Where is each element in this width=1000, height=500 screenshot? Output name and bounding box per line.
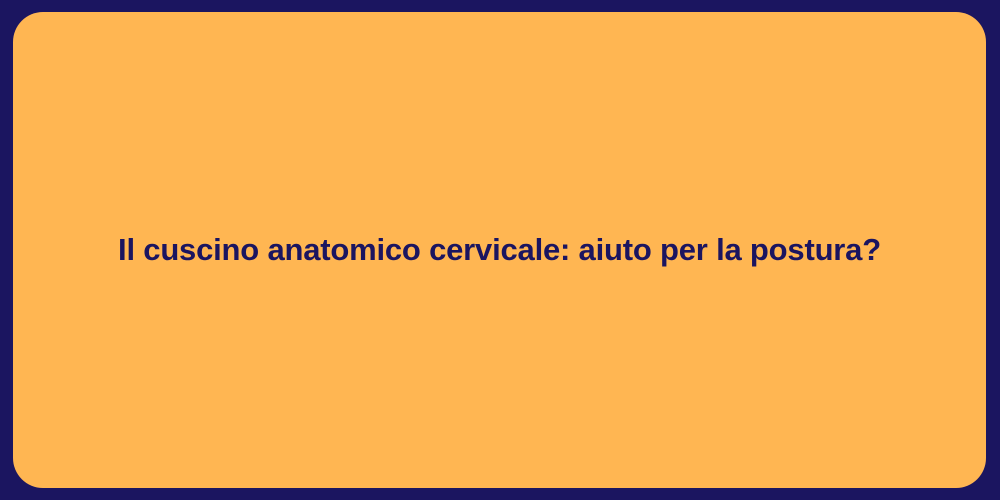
page-title: Il cuscino anatomico cervicale: aiuto pe…	[118, 231, 881, 270]
banner-panel: Il cuscino anatomico cervicale: aiuto pe…	[13, 12, 986, 488]
banner-frame: Il cuscino anatomico cervicale: aiuto pe…	[0, 0, 1000, 500]
